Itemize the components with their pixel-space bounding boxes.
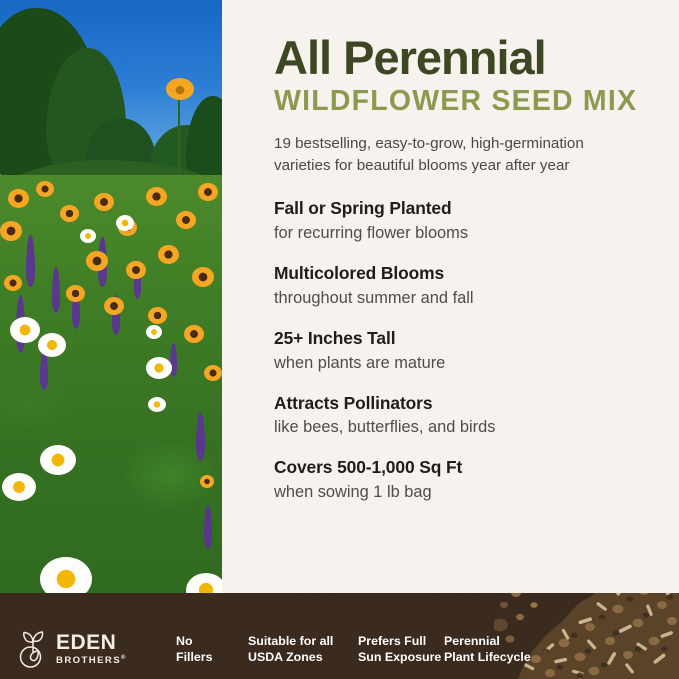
badge-line2: USDA Zones <box>248 649 358 666</box>
eden-brothers-logo[interactable]: EDEN BROTHERS® <box>16 630 142 668</box>
tall-yellow-flower-icon <box>166 78 194 100</box>
feature-subtitle: when plants are mature <box>274 353 649 374</box>
torn-soil-edge <box>0 593 679 619</box>
eden-brothers-wordmark: EDEN BROTHERS® <box>56 632 127 666</box>
badge-line2: Plant Lifecycle <box>444 649 554 666</box>
feature-item: Multicolored Blooms throughout summer an… <box>274 263 649 308</box>
feature-item: 25+ Inches Tall when plants are mature <box>274 328 649 373</box>
feature-title: Covers 500-1,000 Sq Ft <box>274 457 649 479</box>
footer-badge-no-fillers: No Fillers <box>176 633 248 666</box>
footer-badge-sun-exposure: Prefers Full Sun Exposure <box>358 633 444 666</box>
badge-line2: Sun Exposure <box>358 649 444 666</box>
badge-line1: Prefers Full <box>358 633 444 650</box>
page-title: All Perennial <box>274 34 649 82</box>
feature-subtitle: for recurring flower blooms <box>274 223 649 244</box>
footer-badge-usda-zones: Suitable for all USDA Zones <box>248 633 358 666</box>
meadow-foliage <box>0 175 222 600</box>
badge-line1: Perennial <box>444 633 554 650</box>
registered-trademark-icon: ® <box>121 655 127 661</box>
feature-title: 25+ Inches Tall <box>274 328 649 350</box>
feature-item: Covers 500-1,000 Sq Ft when sowing 1 lb … <box>274 457 649 502</box>
page-subtitle: WILDFLOWER SEED MIX <box>274 86 649 117</box>
wildflower-meadow-photo <box>0 0 222 600</box>
feature-item: Attracts Pollinators like bees, butterfl… <box>274 393 649 438</box>
badge-line1: Suitable for all <box>248 633 358 650</box>
feature-subtitle: like bees, butterflies, and birds <box>274 417 649 438</box>
brand-name-line1: EDEN <box>56 632 127 653</box>
product-details-panel: All Perennial WILDFLOWER SEED MIX 19 bes… <box>222 0 679 600</box>
brand-name-line2: BROTHERS® <box>56 655 127 666</box>
feature-title: Fall or Spring Planted <box>274 198 649 220</box>
feature-item: Fall or Spring Planted for recurring flo… <box>274 198 649 243</box>
product-description: 19 bestselling, easy-to-grow, high-germi… <box>274 133 624 176</box>
footer-content-row: EDEN BROTHERS® No Fillers Suitable for a… <box>0 619 679 679</box>
sprout-seedling-icon <box>16 630 50 668</box>
product-infographic-card: All Perennial WILDFLOWER SEED MIX 19 bes… <box>0 0 679 679</box>
feature-subtitle: throughout summer and fall <box>274 288 649 309</box>
footer-badge-plant-lifecycle: Perennial Plant Lifecycle <box>444 633 554 666</box>
feature-title: Multicolored Blooms <box>274 263 649 285</box>
badge-line1: No <box>176 633 248 650</box>
badge-line2: Fillers <box>176 649 248 666</box>
feature-subtitle: when sowing 1 lb bag <box>274 482 649 503</box>
tall-flower-stem <box>178 98 180 176</box>
footer-bar: EDEN BROTHERS® No Fillers Suitable for a… <box>0 593 679 679</box>
feature-title: Attracts Pollinators <box>274 393 649 415</box>
